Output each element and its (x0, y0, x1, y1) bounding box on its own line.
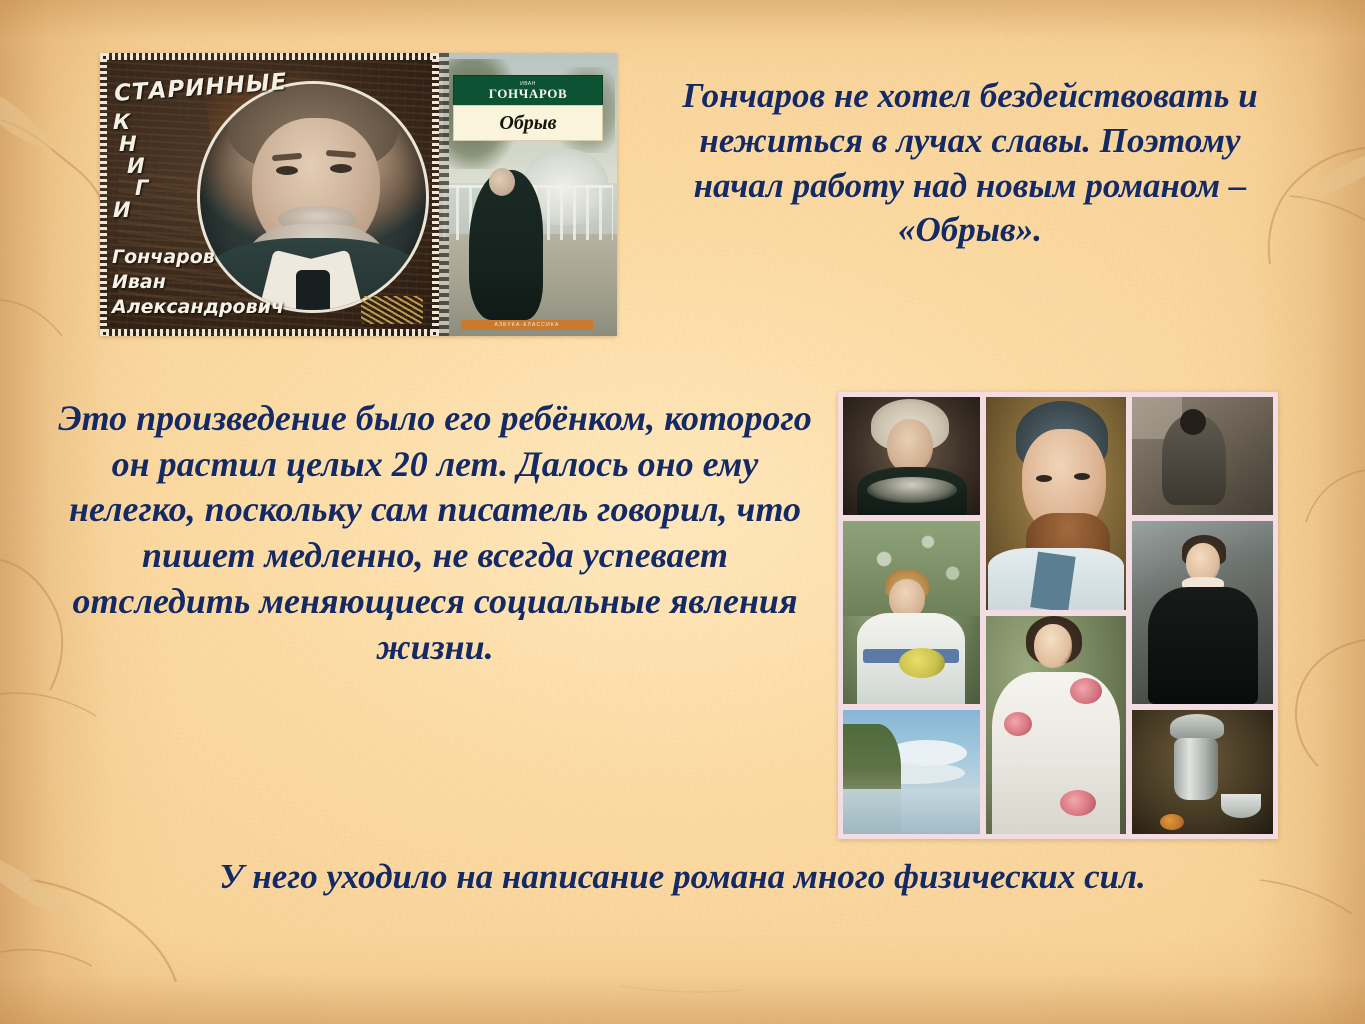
collage-panel-lady-in-black-dress (1132, 521, 1273, 704)
stamp-author-surname: Гончаров (112, 245, 284, 270)
scene-figure-head (1180, 409, 1206, 435)
girl-flower-bouquet (899, 648, 945, 678)
black-lady-gown (1148, 587, 1258, 704)
collage-panel-interior-genre-scene (1132, 397, 1273, 515)
rose-shoulder (1070, 678, 1102, 704)
stamp-letter-2: Н (119, 133, 148, 155)
lady-face (887, 419, 933, 473)
stamp-letter-4: Г (135, 177, 148, 199)
cover-author-band: ИВАН ГОНЧАРОВ (453, 75, 603, 107)
stamp-perforation-right (432, 53, 439, 336)
collage-panel-bearded-man-portrait (986, 397, 1126, 610)
man-cravat (1030, 551, 1075, 609)
cover-spine-binding (439, 53, 449, 336)
man-eye-left (1036, 475, 1052, 482)
rose-bodice (1004, 712, 1032, 736)
collage-panel-lady-in-white-with-roses (986, 616, 1126, 835)
cover-title-box: Обрыв (453, 105, 603, 141)
book-cover-obryv: ИВАН ГОНЧАРОВ Обрыв АЗБУКА-КЛАССИКА (439, 53, 617, 336)
samovar (1174, 738, 1218, 800)
portrait-eye-right (330, 164, 352, 173)
goncharov-stamp-image: СТАРИННЫЕ К Н И Г И Гончаров Иван Алекса… (100, 53, 439, 336)
rose-skirt (1060, 790, 1096, 816)
body-paragraph: Это произведение было его ребёнком, кото… (55, 396, 815, 670)
cover-publisher-name: АЗБУКА-КЛАССИКА (494, 322, 559, 328)
stamp-author-patronymic: Александрович (112, 295, 284, 320)
presentation-slide: СТАРИННЫЕ К Н И Г И Гончаров Иван Алекса… (0, 0, 1365, 1024)
landscape-water (843, 789, 980, 834)
portrait-eye-left (276, 166, 298, 175)
closing-paragraph: У него уходило на написание романа много… (40, 855, 1325, 900)
silver-bowl (1221, 794, 1261, 818)
stamp-publisher-logo-icon (361, 296, 423, 324)
cover-publisher-band: АЗБУКА-КЛАССИКА (461, 320, 593, 330)
stamp-author-firstname: Иван (112, 270, 284, 295)
teapot (1170, 714, 1224, 740)
lace-collar (867, 477, 957, 503)
collage-panel-river-landscape (843, 710, 980, 834)
collage-panel-still-life-with-samovar (1132, 710, 1273, 834)
stamp-perforation-left (100, 53, 107, 336)
stamp-series-subtitle: К Н И Г И (113, 111, 148, 221)
intro-paragraph: Гончаров не хотел бездействовать и нежит… (660, 74, 1280, 253)
collage-panel-elderly-lady-in-lace-cap (843, 397, 980, 515)
cover-title: Обрыв (499, 112, 556, 135)
stamp-letter-5: И (113, 199, 148, 221)
collage-panel-girl-in-garden-white-dress (843, 521, 980, 704)
illustration-collage (838, 392, 1278, 839)
top-image-group: СТАРИННЫЕ К Н И Г И Гончаров Иван Алекса… (100, 53, 617, 336)
stamp-letter-3: И (127, 155, 148, 177)
stamp-perforation-bottom (100, 329, 439, 336)
fruit (1160, 814, 1184, 830)
stamp-perforation-top (100, 53, 439, 60)
white-lady-face (1034, 624, 1072, 668)
stamp-author-name: Гончаров Иван Александрович (112, 245, 284, 320)
stamp-letter-1: К (113, 111, 148, 133)
portrait-necktie (296, 270, 330, 313)
man-eye-right (1074, 473, 1090, 480)
cover-author-surname: ГОНЧАРОВ (489, 87, 568, 101)
cover-seated-lady-head (489, 168, 515, 196)
